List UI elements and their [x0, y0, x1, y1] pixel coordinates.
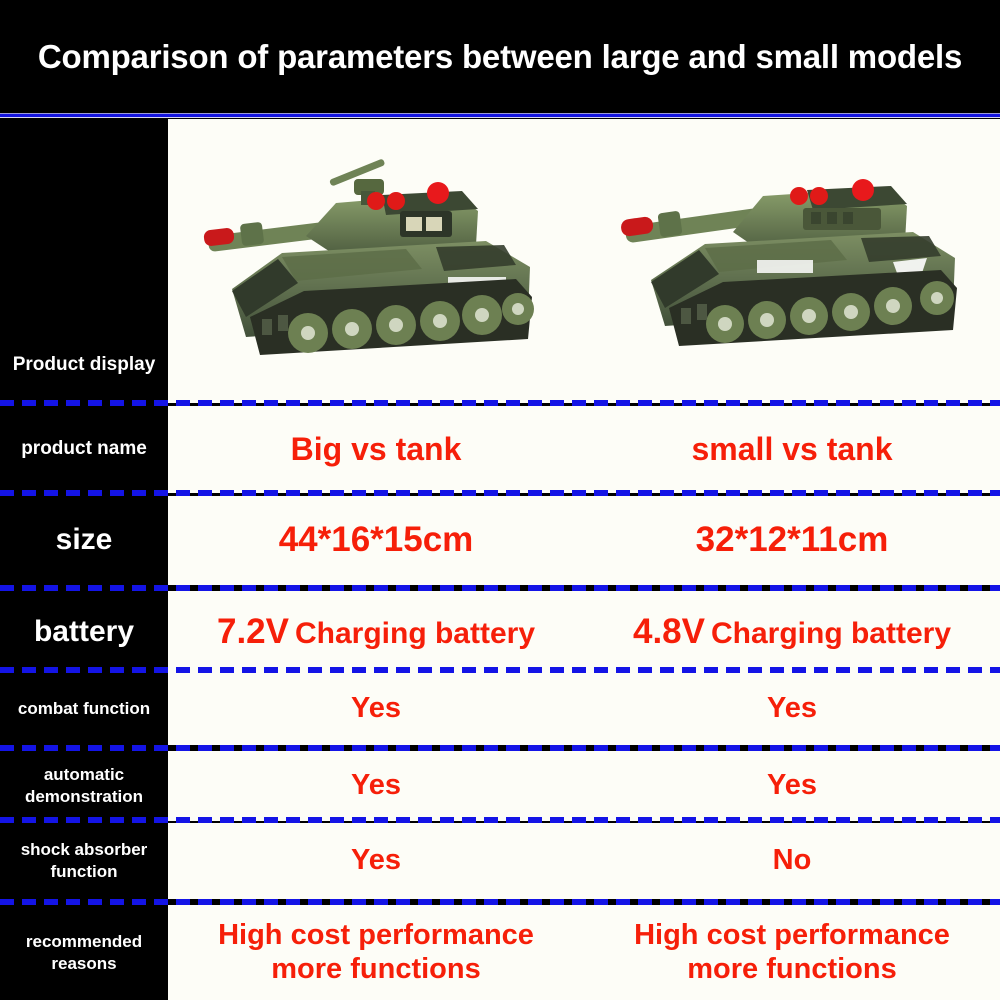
value-text: 32*12*11cm — [696, 520, 889, 561]
battery-type: Charging battery — [295, 617, 535, 652]
table-row-product-display: Product display — [0, 119, 1000, 403]
row-label-text: automatic — [44, 764, 124, 786]
row-label-size: size — [0, 496, 168, 585]
product-display-values — [168, 119, 1000, 403]
row-label-automatic-demonstration: automatic demonstration — [0, 751, 168, 821]
page-title: Comparison of parameters between large a… — [38, 38, 962, 76]
value-cell-big: 44*16*15cm — [168, 496, 584, 585]
value-cell-big: Yes — [168, 823, 584, 899]
value-text: Yes — [351, 769, 401, 803]
product-name-values: Big vs tank small vs tank — [168, 406, 1000, 493]
comparison-table: Product display — [0, 119, 1000, 1000]
table-row-combat-function: combat function Yes Yes — [0, 673, 1000, 745]
table-row-size: size 44*16*15cm 32*12*11cm — [0, 496, 1000, 585]
value-text: Big vs tank — [291, 431, 462, 468]
table-row-recommended-reasons: recommended reasons High cost performanc… — [0, 905, 1000, 1000]
row-label-recommended-reasons: recommended reasons — [0, 905, 168, 1000]
value-cell-big: High cost performance more functions — [168, 905, 584, 1000]
battery-values: 7.2V Charging battery 4.8V Charging batt… — [168, 591, 1000, 674]
value-text: Yes — [767, 769, 817, 803]
automatic-demonstration-values: Yes Yes — [168, 751, 1000, 821]
table-row-battery: battery 7.2V Charging battery 4.8V Charg… — [0, 591, 1000, 674]
page-title-bar: Comparison of parameters between large a… — [0, 0, 1000, 113]
value-cell-small: Yes — [584, 751, 1000, 821]
row-label-text-2: demonstration — [25, 786, 143, 808]
hull-decal — [757, 260, 813, 273]
table-row-automatic-demonstration: automatic demonstration Yes Yes — [0, 751, 1000, 821]
row-label-text: Product display — [13, 353, 156, 377]
recommended-reasons-values: High cost performance more functions Hig… — [168, 905, 1000, 1000]
tank-image-small — [584, 119, 1000, 403]
value-cell-big: Big vs tank — [168, 406, 584, 493]
value-text: Yes — [351, 692, 401, 726]
value-text: No — [773, 844, 812, 878]
battery-voltage: 7.2V — [217, 612, 289, 653]
combat-function-values: Yes Yes — [168, 673, 1000, 745]
row-label-text: product name — [21, 437, 147, 461]
small-tank-illustration — [607, 156, 977, 366]
value-text: High cost performance — [218, 919, 534, 953]
row-label-text-2: function — [50, 861, 117, 883]
shock-absorber-values: Yes No — [168, 823, 1000, 899]
row-label-combat-function: combat function — [0, 673, 168, 745]
row-label-text: battery — [34, 613, 134, 651]
row-label-shock-absorber-function: shock absorber function — [0, 823, 168, 899]
battery-spec: 4.8V Charging battery — [633, 612, 951, 653]
big-tank-illustration — [186, 141, 566, 381]
row-label-text: size — [56, 521, 113, 559]
value-cell-small: small vs tank — [584, 406, 1000, 493]
value-text-2: more functions — [271, 953, 480, 987]
value-cell-small: Yes — [584, 673, 1000, 745]
tank-image-big — [168, 119, 584, 403]
comparison-infographic: Comparison of parameters between large a… — [0, 0, 1000, 1000]
row-label-product-name: product name — [0, 406, 168, 493]
battery-voltage: 4.8V — [633, 612, 705, 653]
row-label-text: combat function — [18, 698, 150, 720]
row-label-text-2: reasons — [51, 953, 116, 975]
value-cell-small: 32*12*11cm — [584, 496, 1000, 585]
row-label-battery: battery — [0, 591, 168, 674]
table-row-shock-absorber-function: shock absorber function Yes No — [0, 823, 1000, 899]
value-text-2: more functions — [687, 953, 896, 987]
value-text: 44*16*15cm — [279, 520, 474, 561]
value-cell-small: High cost performance more functions — [584, 905, 1000, 1000]
size-values: 44*16*15cm 32*12*11cm — [168, 496, 1000, 585]
value-cell-big: Yes — [168, 751, 584, 821]
value-cell-big: 7.2V Charging battery — [168, 591, 584, 674]
row-label-text: recommended — [26, 931, 142, 953]
row-label-text: shock absorber — [21, 839, 148, 861]
value-cell-small: No — [584, 823, 1000, 899]
value-text: Yes — [351, 844, 401, 878]
battery-type: Charging battery — [711, 617, 951, 652]
table-row-product-name: product name Big vs tank small vs tank — [0, 406, 1000, 493]
title-underline-rule — [0, 113, 1000, 118]
value-text: Yes — [767, 692, 817, 726]
value-cell-small: 4.8V Charging battery — [584, 591, 1000, 674]
value-text: small vs tank — [692, 431, 893, 468]
value-text: High cost performance — [634, 919, 950, 953]
battery-spec: 7.2V Charging battery — [217, 612, 535, 653]
row-label-product-display: Product display — [0, 119, 168, 403]
value-cell-big: Yes — [168, 673, 584, 745]
